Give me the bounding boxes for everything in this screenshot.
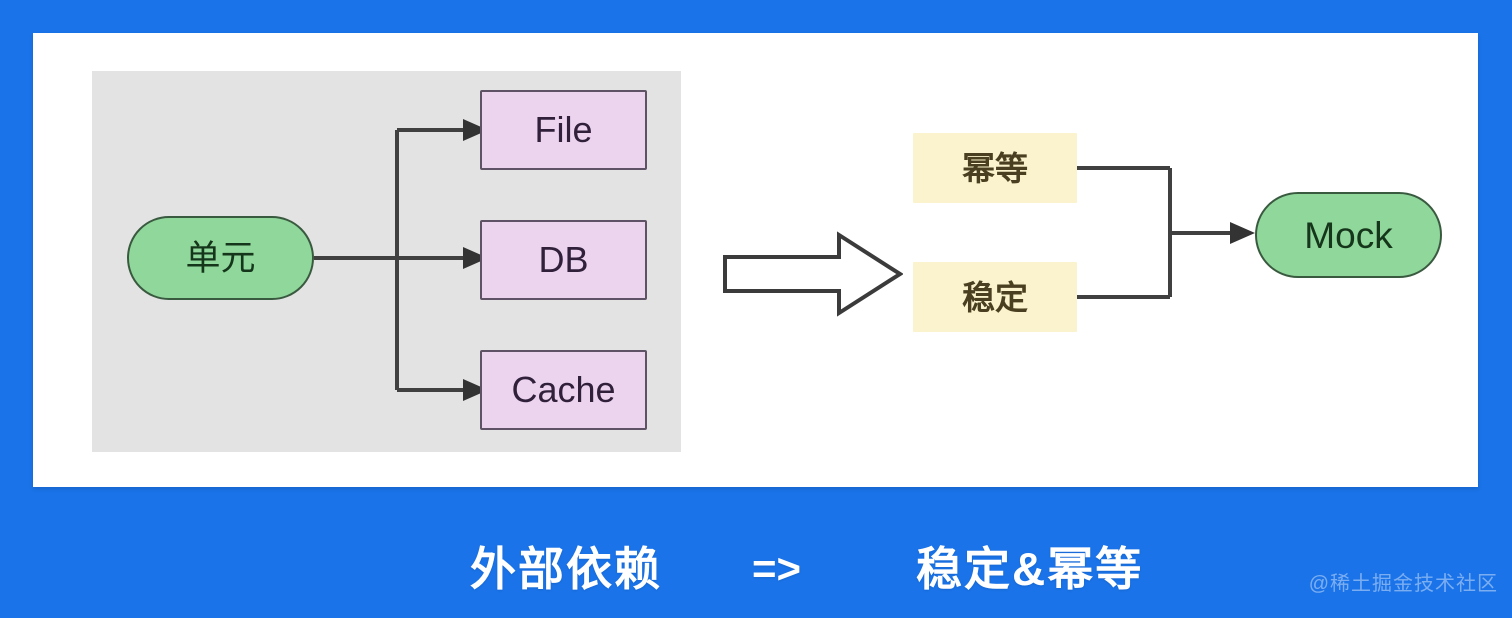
caption-bar: 外部依赖 => 稳定&幂等: [0, 520, 1512, 618]
node-cache-label: Cache: [511, 372, 615, 408]
node-stable-label: 稳定: [962, 281, 1028, 314]
caption-arrow-text: =>: [752, 548, 801, 590]
node-mock[interactable]: Mock: [1255, 192, 1442, 278]
node-cache[interactable]: Cache: [480, 350, 647, 430]
node-stable[interactable]: 稳定: [913, 262, 1077, 332]
slide-root: 单元 File DB Cache: [0, 0, 1512, 618]
node-file[interactable]: File: [480, 90, 647, 170]
node-file-label: File: [534, 112, 592, 148]
node-idempotent[interactable]: 幂等: [913, 133, 1077, 203]
node-db[interactable]: DB: [480, 220, 647, 300]
watermark: @稀土掘金技术社区: [1309, 574, 1498, 594]
block-arrow-right-icon: [723, 229, 903, 319]
caption-right-text: 稳定&幂等: [916, 546, 1143, 592]
caption-left-text: 外部依赖: [470, 546, 662, 592]
node-idempotent-label: 幂等: [962, 152, 1028, 185]
node-mock-label: Mock: [1304, 217, 1392, 254]
node-db-label: DB: [538, 242, 588, 278]
diagram-card: 单元 File DB Cache: [33, 33, 1478, 487]
node-unit-label: 单元: [185, 241, 255, 276]
node-unit[interactable]: 单元: [127, 216, 314, 300]
